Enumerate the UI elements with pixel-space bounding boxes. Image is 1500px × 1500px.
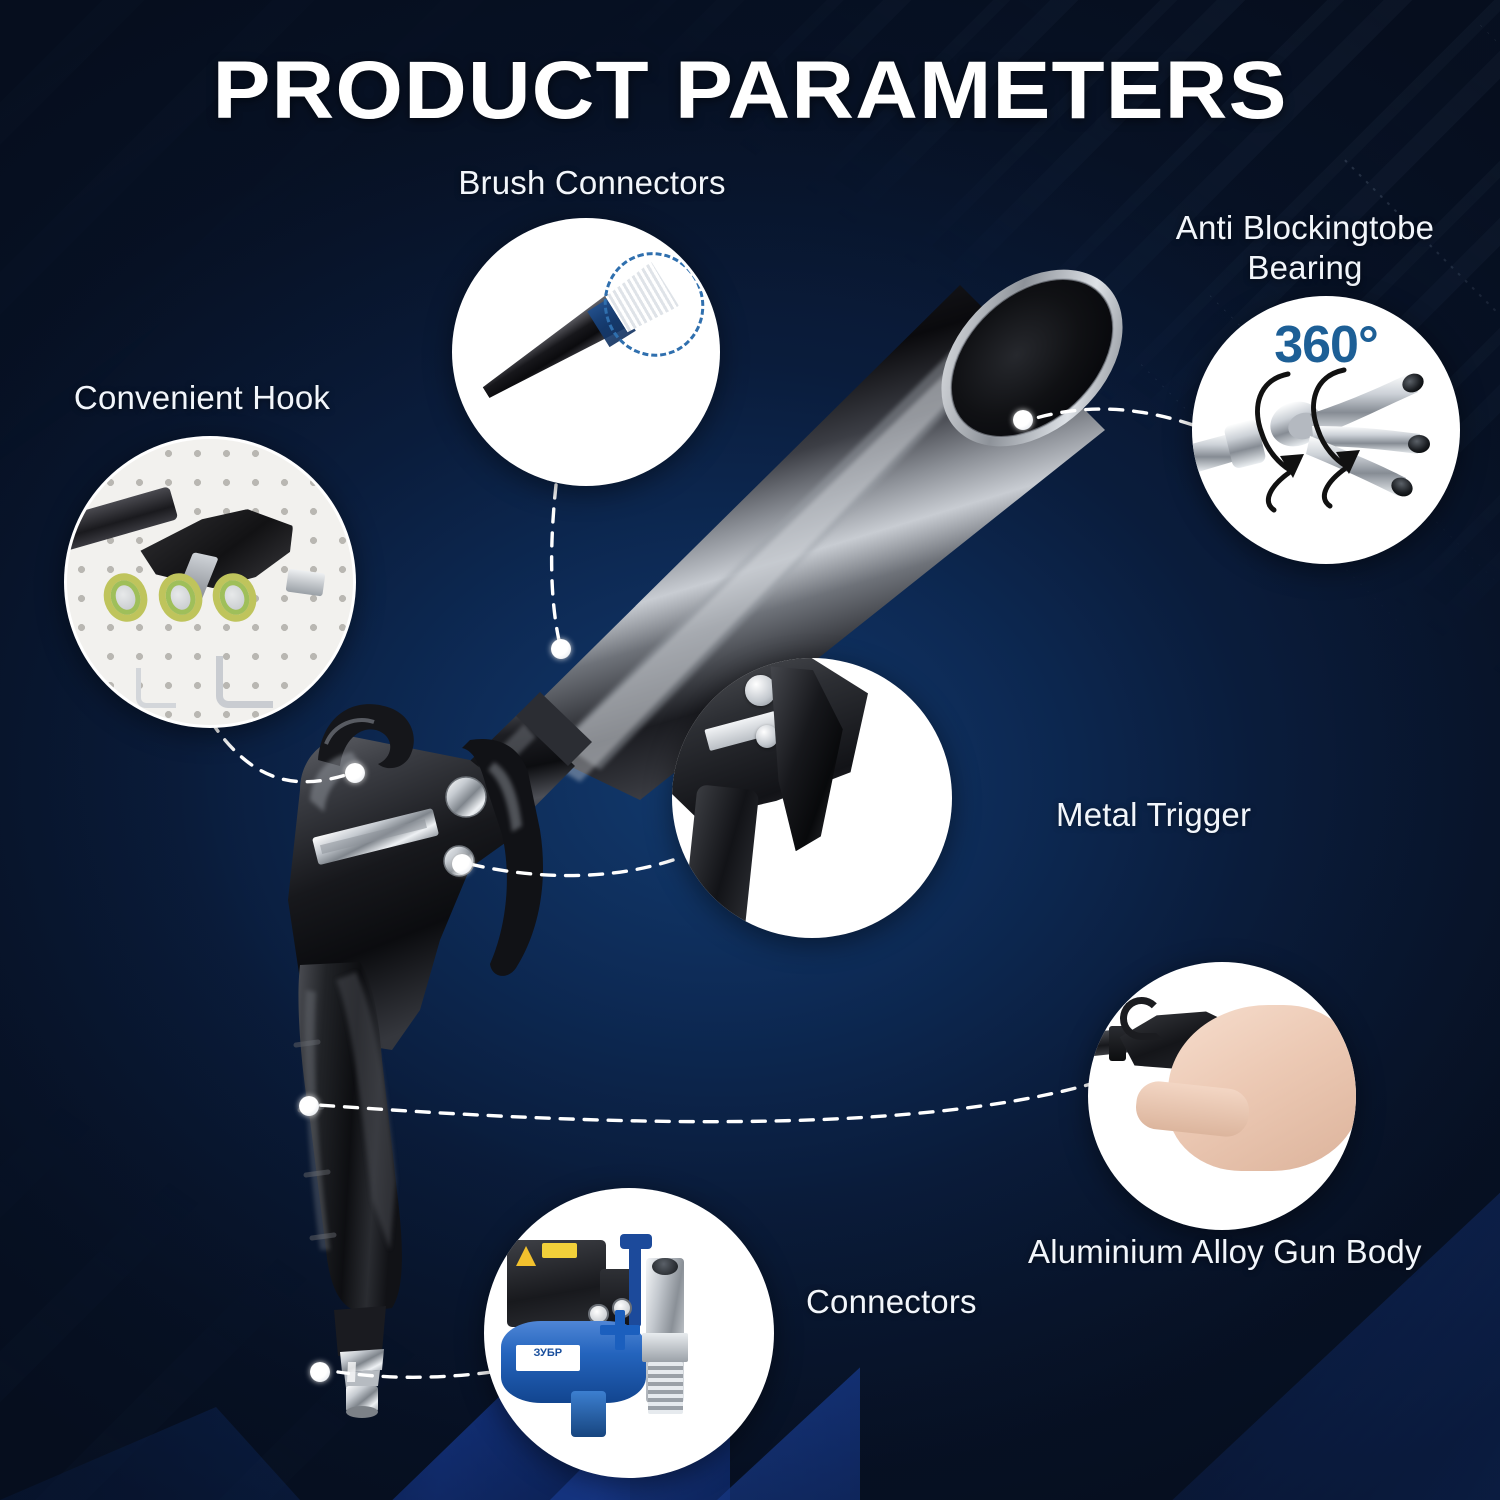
label-anti-blocking-bearing: Anti Blockingtobe Bearing xyxy=(1135,208,1475,287)
label-metal-trigger: Metal Trigger xyxy=(1056,795,1356,835)
fitting-threads xyxy=(648,1362,683,1414)
inset-connectors: ЗУБР xyxy=(484,1188,774,1478)
brush-highlight-ellipse xyxy=(591,240,718,370)
inset-brush-connectors xyxy=(452,218,720,486)
alloy-gun-collar xyxy=(1109,1026,1125,1061)
pegboard-background xyxy=(67,439,353,725)
label-connectors: Connectors xyxy=(806,1282,1086,1322)
label-aluminium-alloy-gun-body: Aluminium Alloy Gun Body xyxy=(1028,1232,1468,1272)
compressor-sticker xyxy=(542,1243,577,1258)
compressor-brand-label: ЗУБР xyxy=(516,1345,580,1371)
anchor-dot-trigger xyxy=(452,854,472,874)
coiled-hose-1 xyxy=(98,568,154,627)
pegboard-bracket-1 xyxy=(216,656,273,707)
anchor-dot-nozzle xyxy=(1013,410,1033,430)
anchor-dot-fitting xyxy=(310,1362,330,1382)
inset-anti-blocking-bearing: 360° xyxy=(1192,296,1460,564)
anchor-dot-hook xyxy=(345,763,365,783)
pegboard-gun-fitting xyxy=(286,568,326,596)
anchor-dot-grip xyxy=(299,1096,319,1116)
inset-convenient-hook xyxy=(64,436,356,728)
label-brush-connectors: Brush Connectors xyxy=(452,163,732,203)
plus-icon xyxy=(600,1310,640,1350)
page-title: PRODUCT PARAMETERS xyxy=(0,44,1500,138)
blue-shard-left xyxy=(0,1350,300,1500)
trigger-pivot-pin-upper xyxy=(745,675,776,706)
blue-shard-right xyxy=(1080,1180,1500,1500)
inset-aluminium-alloy-gun-body xyxy=(1088,962,1356,1230)
diagonal-stripes-bottom-left xyxy=(0,1060,560,1500)
fitting-hex-nut xyxy=(642,1333,688,1362)
leader-connectors xyxy=(338,1372,492,1377)
compressor-foot xyxy=(571,1391,606,1437)
anchor-dot-barrel xyxy=(551,639,571,659)
inset-metal-trigger xyxy=(672,658,952,938)
leader-brush-connectors xyxy=(552,485,560,645)
leader-anti-blocking xyxy=(1036,409,1193,425)
leader-alloy-body xyxy=(318,1082,1098,1122)
leader-metal-trigger xyxy=(470,860,673,876)
label-convenient-hook: Convenient Hook xyxy=(52,378,352,418)
alloy-gun-hook xyxy=(1120,997,1163,1040)
infographic-canvas: PRODUCT PARAMETERS Brush Connectors Anti… xyxy=(0,0,1500,1500)
fitting-bore xyxy=(652,1258,678,1275)
pegboard-bracket-2 xyxy=(136,668,176,708)
